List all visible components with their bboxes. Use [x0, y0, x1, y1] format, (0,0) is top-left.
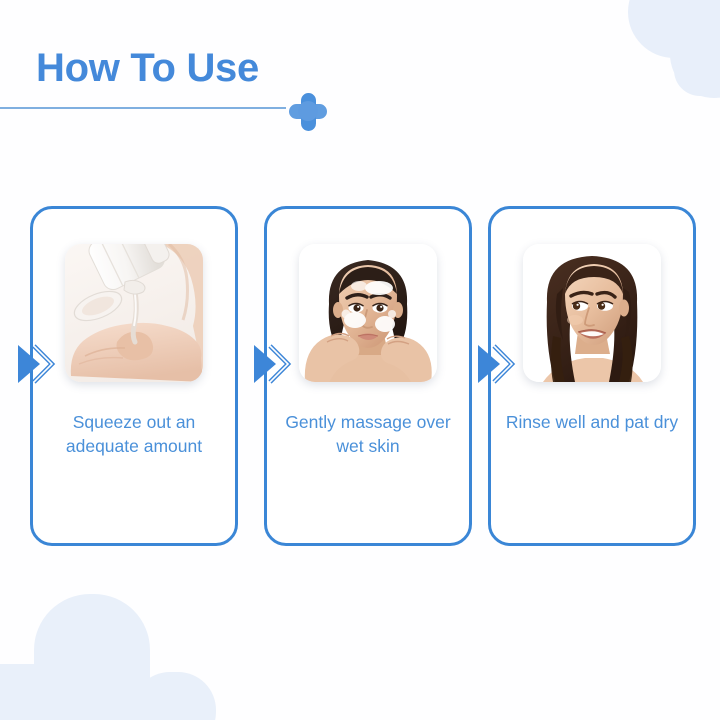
step-card-1[interactable]: Squeeze out an adequate amount: [30, 206, 238, 546]
step-3-caption: Rinse well and pat dry: [502, 410, 682, 434]
step-1-image: [65, 244, 203, 382]
step-card-3[interactable]: Rinse well and pat dry: [488, 206, 696, 546]
step-2-caption: Gently massage over wet skin: [278, 410, 458, 458]
title-underline-rule: [0, 107, 286, 109]
step-3-image: [523, 244, 661, 382]
header: How To Use: [0, 44, 720, 134]
page-title: How To Use: [36, 44, 259, 92]
step-card-2[interactable]: Gently massage over wet skin: [264, 206, 472, 546]
woman-massaging-foam-on-face-photo: [299, 244, 437, 382]
step-2-image: [299, 244, 437, 382]
clover-center: [298, 101, 318, 121]
woman-smiling-clean-face-photo: [523, 244, 661, 382]
steps-row: Squeeze out an adequate amount: [0, 206, 720, 546]
bottle-dispensing-into-palm-photo: [65, 244, 203, 382]
cloud-blob-bottom-left-icon: [0, 580, 216, 720]
how-to-use-infographic: How To Use: [0, 0, 720, 720]
step-1-caption: Squeeze out an adequate amount: [44, 410, 224, 458]
clover-icon: [288, 92, 328, 132]
